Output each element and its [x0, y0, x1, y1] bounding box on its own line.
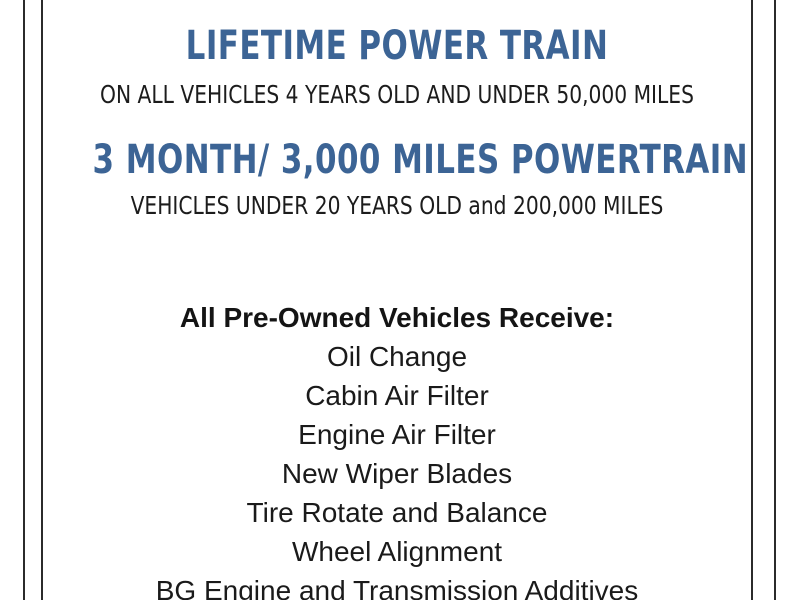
list-item: Oil Change	[43, 337, 751, 376]
offer-headline-3month-powertrain: 3 MONTH/ 3,000 MILES POWERTRAIN	[93, 140, 702, 180]
frame-rule-right-outer	[774, 0, 776, 600]
list-item: Cabin Air Filter	[43, 376, 751, 415]
services-section-title: All Pre-Owned Vehicles Receive:	[43, 298, 751, 337]
flyer-content: LIFETIME POWER TRAIN ON ALL VEHICLES 4 Y…	[43, 0, 751, 600]
list-item: Tire Rotate and Balance	[43, 493, 751, 532]
offer-subhead-3month-powertrain: VEHICLES UNDER 20 YEARS OLD and 200,000 …	[78, 193, 715, 218]
services-section: All Pre-Owned Vehicles Receive: Oil Chan…	[43, 298, 751, 600]
list-item: New Wiper Blades	[43, 454, 751, 493]
service-list: Oil Change Cabin Air Filter Engine Air F…	[43, 337, 751, 600]
list-item: Wheel Alignment	[43, 532, 751, 571]
offer-headline-lifetime-powertrain: LIFETIME POWER TRAIN	[93, 26, 702, 66]
frame-rule-left-outer	[23, 0, 25, 600]
list-item: Engine Air Filter	[43, 415, 751, 454]
frame-rule-right-inner	[751, 0, 753, 600]
warranty-flyer: LIFETIME POWER TRAIN ON ALL VEHICLES 4 Y…	[0, 0, 800, 600]
offer-subhead-lifetime-powertrain: ON ALL VEHICLES 4 YEARS OLD AND UNDER 50…	[78, 82, 715, 107]
list-item: BG Engine and Transmission Additives	[43, 571, 751, 600]
